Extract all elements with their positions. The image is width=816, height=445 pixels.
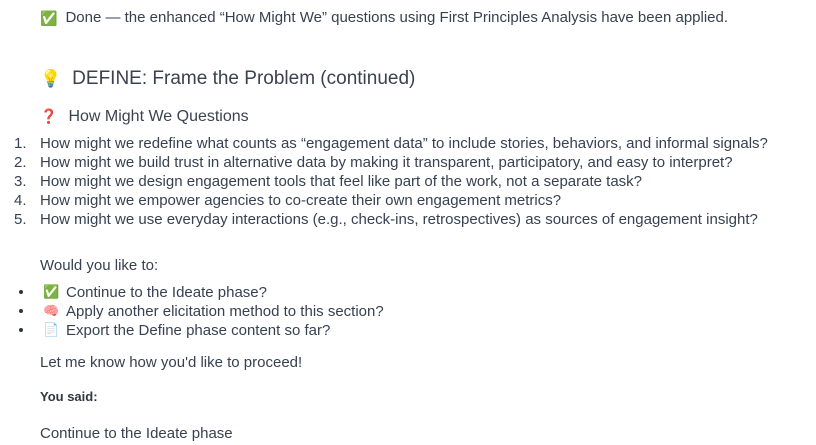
user-turn-label: You said:: [40, 388, 98, 406]
user-message-text: Continue to the Ideate phase: [40, 424, 233, 444]
bullet-point-icon: [19, 290, 23, 294]
list-item-label: How might we design engagement tools tha…: [40, 172, 642, 191]
page-facing-up-icon: 📄: [43, 324, 59, 337]
list-marker: 5.: [14, 210, 34, 229]
list-item-label: How might we use everyday interactions (…: [40, 210, 758, 229]
list-marker: 4.: [14, 191, 34, 210]
bullet-point-icon: [19, 309, 23, 313]
bullet-point-icon: [19, 328, 23, 332]
white-check-mark-icon: ✅: [40, 12, 57, 26]
light-bulb-icon: 💡: [40, 71, 61, 88]
section-subheading: ❓ How Might We Questions: [40, 106, 249, 128]
confirmation-text: Done — the enhanced “How Might We” quest…: [65, 8, 728, 28]
list-marker: 1.: [14, 134, 34, 153]
options-prompt: Would you like to:: [40, 256, 158, 276]
user-message: Continue to the Ideate phase: [40, 424, 233, 444]
closing-message: Let me know how you'd like to proceed!: [40, 353, 302, 373]
list-item-label: How might we build trust in alternative …: [40, 153, 733, 172]
section-heading: 💡 DEFINE: Frame the Problem (continued): [40, 66, 415, 92]
chat-transcript: ✅ Done — the enhanced “How Might We” que…: [0, 0, 816, 445]
section-subheading-text: How Might We Questions: [68, 106, 248, 128]
option-item-label[interactable]: Export the Define phase content so far?: [66, 321, 330, 340]
list-item-label: How might we empower agencies to co-crea…: [40, 191, 561, 210]
list-marker: 2.: [14, 153, 34, 172]
options-prompt-text: Would you like to:: [40, 256, 158, 276]
red-question-mark-icon: ❓: [40, 110, 57, 124]
section-heading-text: DEFINE: Frame the Problem (continued): [72, 66, 415, 92]
white-check-mark-icon: ✅: [43, 286, 59, 299]
closing-message-text: Let me know how you'd like to proceed!: [40, 353, 302, 373]
list-item-label: How might we redefine what counts as “en…: [40, 134, 768, 153]
option-item-label[interactable]: Continue to the Ideate phase?: [66, 283, 267, 302]
option-item-label[interactable]: Apply another elicitation method to this…: [66, 302, 384, 321]
brain-icon: 🧠: [43, 305, 59, 318]
list-marker: 3.: [14, 172, 34, 191]
confirmation-message: ✅ Done — the enhanced “How Might We” que…: [40, 8, 728, 28]
user-turn-label-text: You said:: [40, 388, 98, 406]
